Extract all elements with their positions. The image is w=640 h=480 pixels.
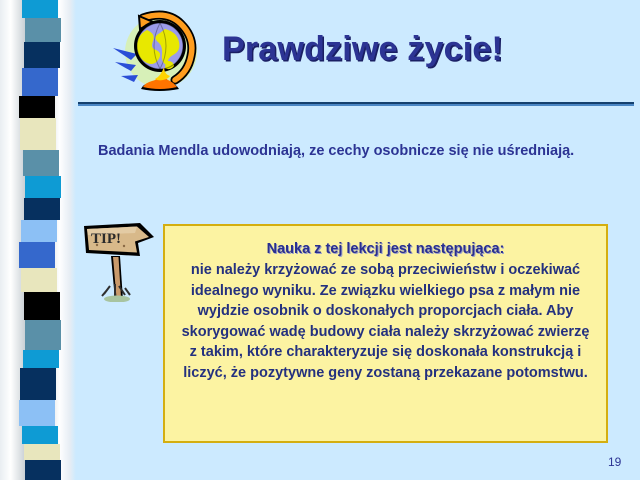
- slide-canvas: Prawdziwe życie! Badania Mendla udowodni…: [0, 0, 640, 480]
- globe-icon: [103, 10, 207, 98]
- divider-rule-light: [78, 104, 634, 106]
- color-band-segment: [22, 0, 58, 18]
- color-band-segment: [25, 320, 61, 350]
- page-number: 19: [608, 455, 621, 469]
- callout-heading: Nauka z tej lekcji jest następująca:: [177, 240, 594, 259]
- color-band-segment: [25, 460, 61, 480]
- title-divider: [78, 102, 634, 107]
- color-band-segment: [22, 426, 58, 444]
- color-band-segment: [20, 368, 56, 400]
- color-band-segment: [24, 292, 60, 320]
- color-band-segment: [20, 118, 56, 150]
- color-band-segment: [19, 96, 55, 118]
- color-band-segment: [24, 444, 60, 460]
- callout-body: nie należy krzyżować ze sobą przeciwieńs…: [177, 260, 594, 383]
- color-band-segment: [24, 198, 60, 220]
- subtitle-text: Badania Mendla udowodniają, ze cechy oso…: [98, 143, 628, 159]
- color-band-segment: [23, 150, 59, 176]
- color-band-segment: [21, 268, 57, 292]
- svg-text:TIP!: TIP!: [91, 231, 121, 247]
- color-band-segment: [19, 242, 55, 268]
- motion-line-icon: [121, 75, 138, 82]
- color-band-segment: [21, 220, 57, 242]
- color-band-segment: [23, 350, 59, 368]
- page-title: Prawdziwe życie!: [222, 30, 503, 69]
- color-band-segment: [19, 400, 55, 426]
- color-band-segment: [25, 18, 61, 42]
- callout-box: Nauka z tej lekcji jest następująca: nie…: [163, 224, 608, 443]
- color-band-segment: [22, 68, 58, 96]
- tip-signpost-icon: TIP!: [80, 220, 158, 302]
- color-band-segment: [25, 176, 61, 198]
- color-band-segment: [24, 42, 60, 68]
- decorative-color-band: [22, 0, 58, 480]
